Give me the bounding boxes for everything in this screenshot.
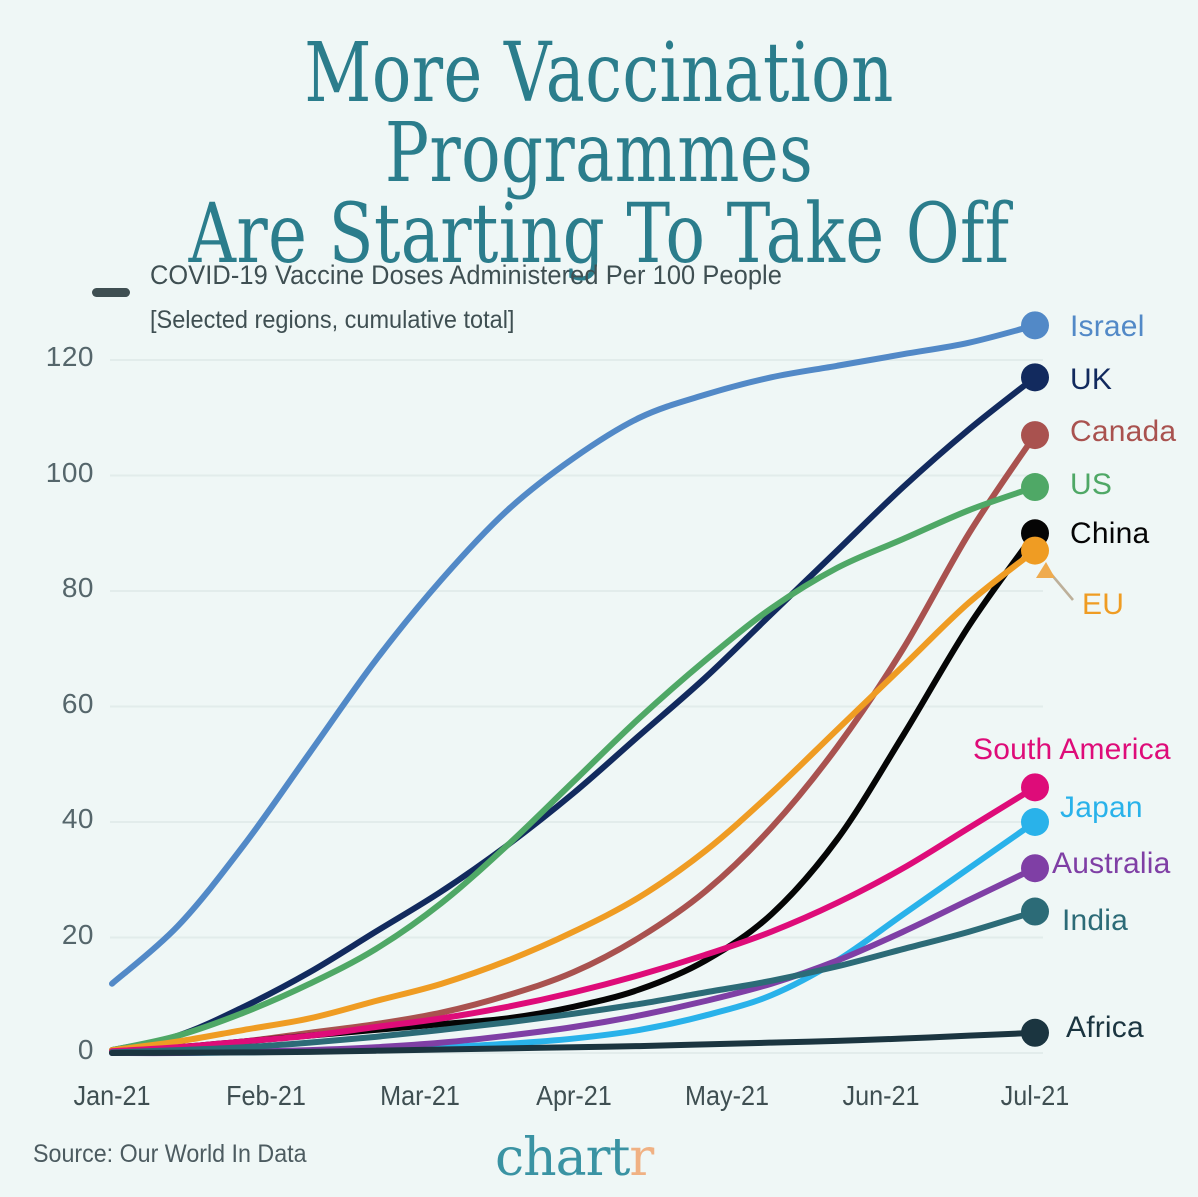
series-endpoint-dot-australia [1021, 854, 1049, 882]
series-label-india: India [1062, 904, 1128, 938]
x-axis-tick-label: Jun-21 [818, 1080, 944, 1112]
series-line-us [112, 487, 1035, 1050]
series-line-australia [112, 868, 1035, 1053]
x-axis-tick-label: May-21 [664, 1080, 790, 1112]
series-label-japan: Japan [1060, 791, 1143, 825]
chart-subtitle-secondary: [Selected regions, cumulative total] [150, 306, 514, 335]
series-line-japan [112, 822, 1035, 1053]
series-endpoint-dot-india [1021, 898, 1049, 926]
series-endpoint-dot-us [1021, 473, 1049, 501]
series-label-australia: Australia [1052, 847, 1171, 881]
x-axis-tick-label: Apr-21 [511, 1080, 637, 1112]
series-endpoint-dot-canada [1021, 421, 1049, 449]
series-label-south-america: South America [973, 733, 1171, 767]
page-title: More Vaccination Programmes Are Starting… [120, 34, 1078, 275]
series-endpoint-dot-south-america [1021, 773, 1049, 801]
x-axis-tick-label: Mar-21 [357, 1080, 483, 1112]
x-axis-tick-label: Jul-21 [972, 1080, 1098, 1112]
series-line-eu [112, 551, 1035, 1051]
gridlines [110, 360, 1043, 1053]
y-axis-tick-label: 40 [18, 803, 94, 835]
series-label-canada: Canada [1070, 415, 1176, 449]
series-line-israel [112, 325, 1035, 983]
series-line-south-america [112, 787, 1035, 1051]
series-line-uk [112, 377, 1035, 1050]
series-endpoint-dot-israel [1021, 311, 1049, 339]
series-line-china [112, 533, 1035, 1051]
series-label-eu: EU [1082, 588, 1124, 622]
legend-dash-marker-icon [92, 288, 130, 297]
logo-main-text: chart [495, 1128, 629, 1188]
series-endpoint-dot-uk [1021, 363, 1049, 391]
chartr-logo: chartr [495, 1128, 653, 1188]
eu-annotation-arrow-icon [1036, 562, 1073, 600]
series-endpoint-dots [1021, 311, 1049, 1046]
series-endpoint-dot-africa [1021, 1019, 1049, 1047]
series-label-us: US [1070, 468, 1112, 502]
x-axis-tick-label: Feb-21 [203, 1080, 329, 1112]
y-axis-tick-label: 100 [18, 457, 94, 489]
series-line-india [112, 912, 1035, 1053]
series-endpoint-dot-japan [1021, 808, 1049, 836]
series-line-africa [112, 1033, 1035, 1053]
series-line-canada [112, 435, 1035, 1051]
series-label-uk: UK [1070, 363, 1112, 397]
chart-page: More Vaccination Programmes Are Starting… [0, 0, 1198, 1197]
y-axis-tick-label: 80 [18, 572, 94, 604]
x-axis-tick-label: Jan-21 [49, 1080, 175, 1112]
logo-accent-text: r [629, 1128, 653, 1188]
series-endpoint-dot-china [1021, 519, 1049, 547]
series-lines [112, 325, 1035, 1053]
y-axis-tick-label: 0 [18, 1034, 94, 1066]
series-label-africa: Africa [1066, 1011, 1144, 1045]
y-axis-tick-label: 120 [18, 341, 94, 373]
series-endpoint-dot-eu [1021, 537, 1049, 565]
series-label-china: China [1070, 517, 1149, 551]
chart-subtitle-main: COVID-19 Vaccine Doses Administered Per … [150, 260, 782, 291]
y-axis-tick-label: 60 [18, 688, 94, 720]
y-axis-tick-label: 20 [18, 919, 94, 951]
series-label-israel: Israel [1070, 310, 1145, 344]
source-note: Source: Our World In Data [33, 1140, 307, 1169]
